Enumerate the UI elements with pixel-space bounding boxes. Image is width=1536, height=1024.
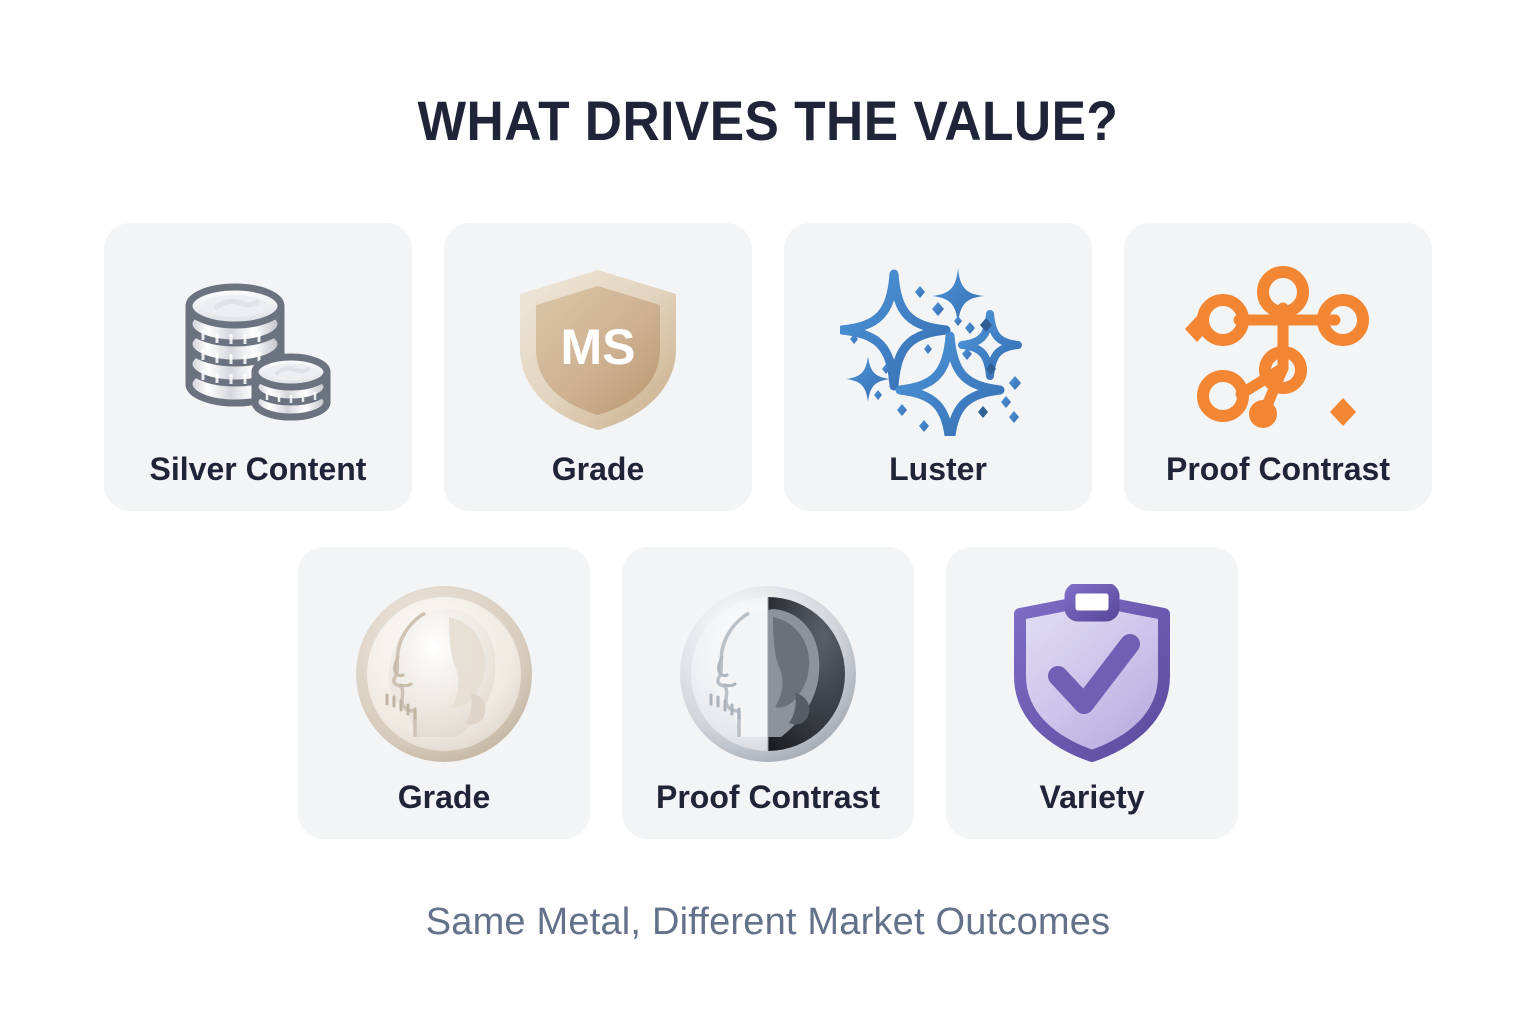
feature-card-proof-contrast-network[interactable]: Proof Contrast (1124, 223, 1432, 511)
feature-card-proof-contrast-coin[interactable]: Proof Contrast (622, 547, 914, 839)
feature-card-variety[interactable]: Variety (946, 547, 1238, 839)
feature-card-label: Silver Content (150, 452, 367, 487)
feature-row-primary: Silver Content (104, 223, 1432, 511)
feature-card-label: Grade (552, 452, 644, 487)
footer-caption: Same Metal, Different Market Outcomes (426, 901, 1111, 944)
feature-card-grade-coin[interactable]: Grade (298, 547, 590, 839)
ms-shield-icon: MS (466, 249, 730, 448)
feature-card-label: Grade (398, 780, 490, 815)
feature-card-label: Luster (889, 452, 987, 487)
feature-row-secondary: Grade (298, 547, 1238, 839)
feature-card-grade-shield[interactable]: MS Grade (444, 223, 752, 511)
network-nodes-icon (1146, 249, 1410, 448)
sparkles-icon (806, 249, 1070, 448)
feature-card-label: Variety (1040, 780, 1145, 815)
ms-shield-text: MS (561, 319, 636, 375)
feature-card-silver-content[interactable]: Silver Content (104, 223, 412, 511)
shield-check-icon (968, 573, 1216, 776)
feature-card-luster[interactable]: Luster (784, 223, 1092, 511)
infographic-page: WHAT DRIVES THE VALUE? (0, 0, 1536, 1024)
feature-card-label: Proof Contrast (1166, 452, 1390, 487)
feature-card-label: Proof Contrast (656, 780, 880, 815)
cameo-split-quarter-icon (644, 573, 892, 776)
page-title: WHAT DRIVES THE VALUE? (418, 92, 1119, 151)
coin-stack-icon (126, 249, 390, 448)
washington-quarter-icon (320, 573, 568, 776)
